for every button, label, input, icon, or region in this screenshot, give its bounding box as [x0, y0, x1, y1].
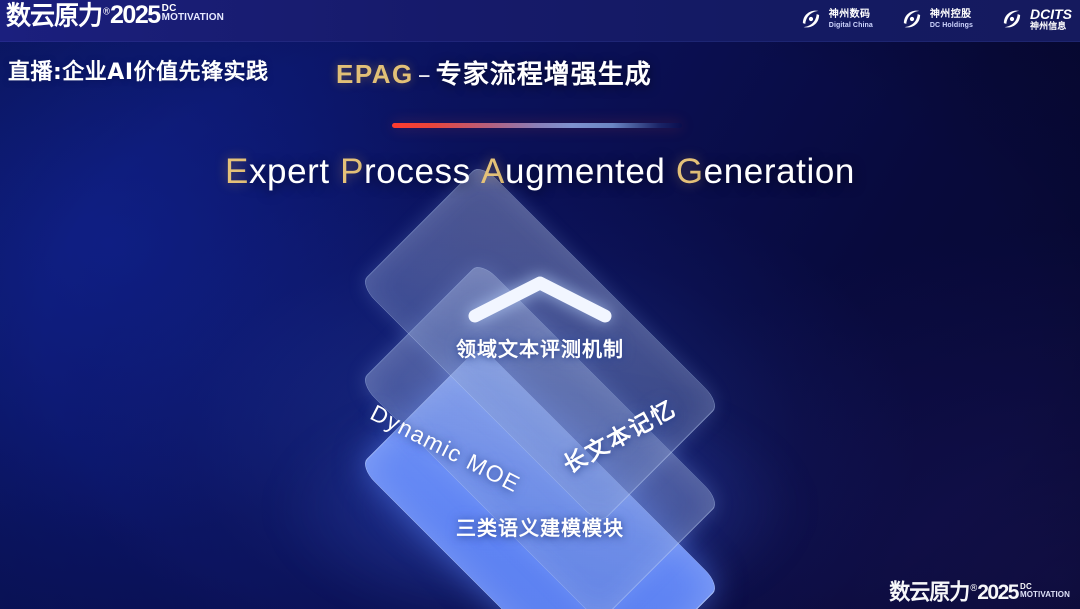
subtitle-initial-e: E — [225, 152, 249, 191]
partner-name-cn: 神州控股 — [930, 10, 973, 20]
swirl-logo-icon — [999, 6, 1025, 32]
subtitle-expanded-acronym: Expert Process Augmented Generation — [0, 152, 1080, 192]
subtitle-rest-process: rocess — [364, 152, 471, 191]
brand-logo: 数云原力® 2025 DC MOTIVATION — [6, 3, 224, 28]
watermark-year: 2025 — [977, 582, 1018, 603]
subtitle-rest-augmented: ugmented — [505, 152, 665, 191]
watermark-motivation-line: MOTIVATION — [1020, 590, 1070, 599]
subtitle-initial-p: P — [340, 152, 364, 191]
watermark-dc-line: DC — [1020, 583, 1070, 590]
partner-name-en: DC Holdings — [930, 22, 973, 29]
partner-logo-dcits: DCITS 神州信息 — [999, 6, 1072, 32]
partner-name-en: Digital China — [829, 22, 873, 29]
page-title: EPAG–专家流程增强生成 — [336, 54, 652, 91]
divider — [392, 123, 682, 128]
subtitle-initial-g: G — [676, 152, 704, 191]
watermark-registered-mark: ® — [969, 584, 977, 595]
partner-name-en: 神州信息 — [1030, 23, 1072, 32]
title-dash: – — [414, 60, 436, 90]
stack-label-top: 领域文本评测机制 — [456, 333, 624, 362]
partner-logos: 神州数码 Digital China 神州控股 DC Holdings — [798, 6, 1072, 32]
partner-text: 神州数码 Digital China — [829, 10, 873, 29]
brand-year: 2025 — [110, 3, 160, 28]
partner-logo-digital-china: 神州数码 Digital China — [798, 6, 873, 32]
swirl-logo-icon — [899, 6, 925, 32]
slide-canvas: 数云原力® 2025 DC MOTIVATION 神州数码 Digital — [0, 0, 1080, 609]
footer-watermark-logo: 数云原力® 2025 DC MOTIVATION — [889, 582, 1070, 603]
title-chinese: 专家流程增强生成 — [436, 60, 652, 90]
live-session-title: 直播:企业AI价值先锋实践 — [8, 54, 269, 86]
subtitle-rest-generation: eneration — [704, 152, 855, 191]
partner-name-cn: 神州数码 — [829, 10, 873, 20]
brand-motivation-line: MOTIVATION — [162, 13, 224, 23]
partner-text: DCITS 神州信息 — [1030, 7, 1072, 32]
brand-dc-motivation: DC MOTIVATION — [162, 3, 224, 23]
partner-name-cn: DCITS — [1030, 7, 1072, 21]
title-acronym: EPAG — [336, 59, 414, 89]
subtitle-rest-expert: xpert — [249, 152, 330, 191]
watermark-name-cn: 数云原力® — [889, 581, 977, 603]
partner-logo-dc-holdings: 神州控股 DC Holdings — [899, 6, 973, 32]
brand-name-cn: 数云原力® — [6, 2, 110, 28]
swirl-logo-icon — [798, 6, 824, 32]
header-bar: 数云原力® 2025 DC MOTIVATION 神州数码 Digital — [0, 0, 1080, 42]
partner-text: 神州控股 DC Holdings — [930, 10, 973, 29]
registered-mark: ® — [102, 7, 110, 17]
subtitle-initial-a: A — [481, 152, 505, 191]
stack-label-bottom: 三类语义建模模块 — [456, 512, 624, 541]
watermark-dc-motivation: DC MOTIVATION — [1020, 582, 1070, 599]
